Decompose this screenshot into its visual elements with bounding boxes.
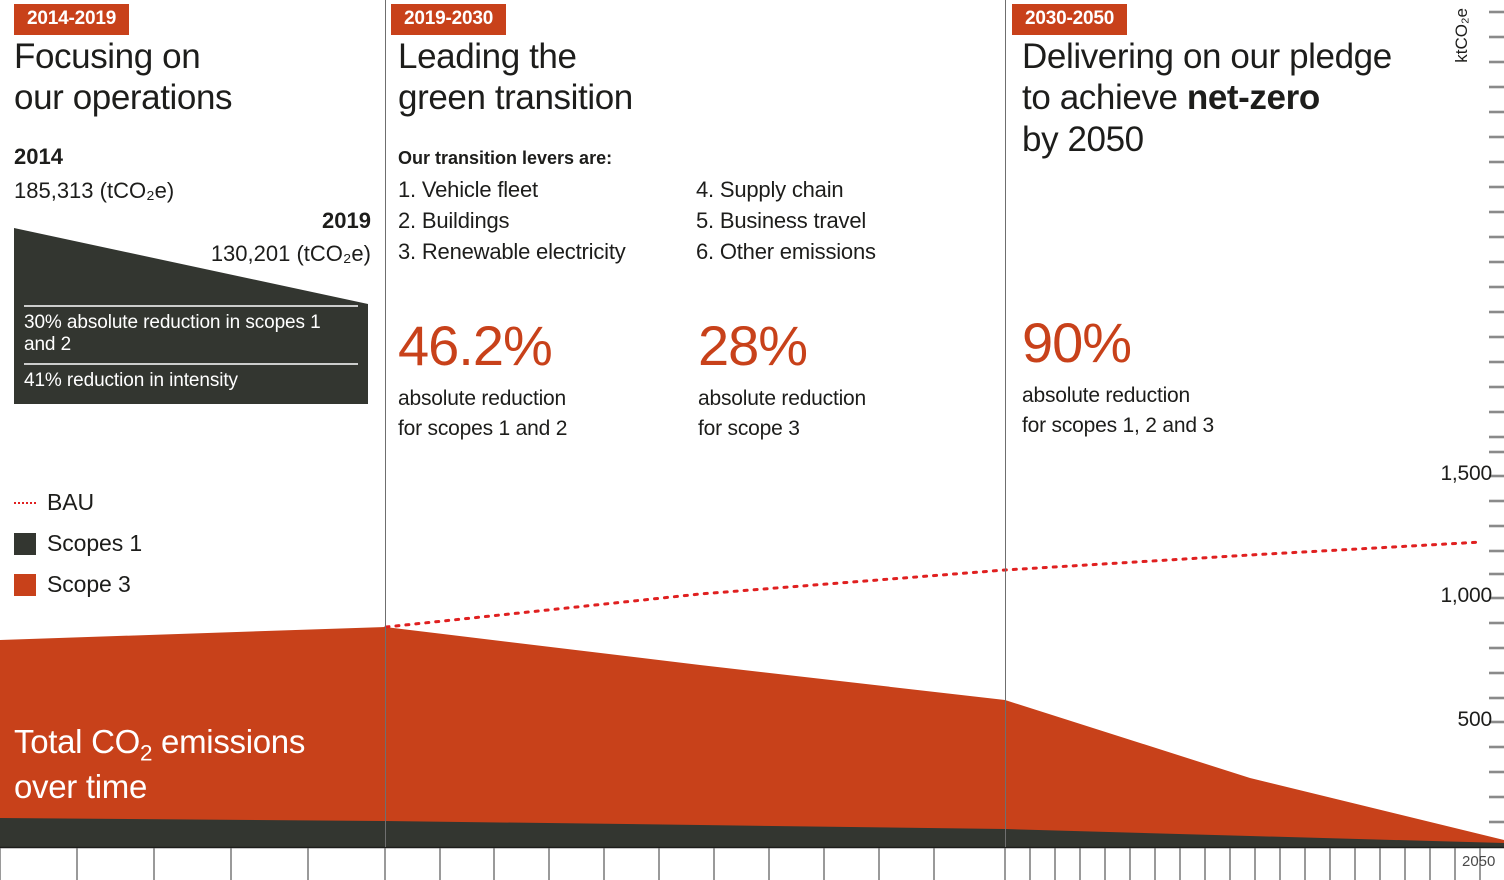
- chart-title-subscript: 2: [140, 741, 152, 766]
- chart-title-line-2: over time: [14, 767, 305, 808]
- legend-label-bau: BAU: [47, 489, 94, 516]
- chart-title-line-1: Total CO2 emissions: [14, 722, 305, 767]
- panel-3-heading-line-1: Delivering on our pledge: [1022, 36, 1392, 77]
- transition-levers-title: Our transition levers are:: [398, 148, 612, 169]
- chart-title-suffix: emissions: [152, 723, 305, 760]
- stat-scope-3: 28% absolute reduction for scope 3: [698, 318, 866, 445]
- stat-caption-line-2: for scopes 1, 2 and 3: [1022, 411, 1214, 441]
- stat-caption-line-2: for scopes 1 and 2: [398, 414, 567, 444]
- legend-item-scope-3[interactable]: Scope 3: [14, 564, 142, 605]
- transition-levers-column-b: 4. Supply chain 5. Business travel 6. Ot…: [696, 174, 876, 268]
- stat-value: 46.2%: [398, 318, 567, 374]
- legend-label-scopes-1: Scopes 1: [47, 530, 142, 557]
- x-axis-ticks: [0, 848, 1480, 880]
- chart-legend: BAU Scopes 1 Scope 3: [14, 482, 142, 605]
- chart-title: Total CO2 emissions over time: [14, 722, 305, 808]
- panel-2-heading-line-2: green transition: [398, 77, 633, 118]
- square-swatch-icon: [14, 533, 36, 555]
- y-axis-title: ktCO₂e: [1452, 8, 1472, 63]
- stat-value: 90%: [1022, 315, 1214, 371]
- stat-caption-line-1: absolute reduction: [1022, 381, 1214, 411]
- transition-levers-column-a: 1. Vehicle fleet 2. Buildings 3. Renewab…: [398, 174, 626, 268]
- panel-3-heading-line-3: by 2050: [1022, 119, 1392, 160]
- reduction-stat-intensity: 41% reduction in intensity: [24, 370, 354, 392]
- y-tick-label-1000: 1,000: [1440, 584, 1492, 608]
- lever-item: 3. Renewable electricity: [398, 236, 626, 267]
- y-axis-ticks: [1489, 12, 1504, 822]
- panel-divider-2019: [385, 0, 386, 847]
- legend-item-scopes-1[interactable]: Scopes 1: [14, 523, 142, 564]
- stat-caption-line-1: absolute reduction: [398, 384, 567, 414]
- lever-item: 2. Buildings: [398, 205, 626, 236]
- stat-caption-line-1: absolute reduction: [698, 384, 866, 414]
- panel-1-heading-line-1: Focusing on: [14, 36, 232, 77]
- y-tick-label-500: 500: [1458, 708, 1492, 732]
- panel-2-heading: Leading the green transition: [398, 36, 633, 119]
- reduction-stat-absolute: 30% absolute reduction in scopes 1 and 2: [24, 312, 354, 357]
- period-tab-2019-2030[interactable]: 2019-2030: [391, 4, 506, 35]
- dotted-line-icon: [14, 492, 36, 514]
- year-2014-label: 2014: [14, 144, 63, 170]
- year-2014-value: 185,313 (tCO₂e): [14, 178, 174, 204]
- period-tab-2014-2019[interactable]: 2014-2019: [14, 4, 129, 35]
- panel-3-heading: Delivering on our pledge to achieve net-…: [1022, 36, 1392, 160]
- bau-line: [386, 542, 1482, 627]
- stat-caption-line-2: for scope 3: [698, 414, 866, 444]
- panel-3-heading-line-2: to achieve net-zero: [1022, 77, 1392, 118]
- panel-2-heading-line-1: Leading the: [398, 36, 633, 77]
- chart-title-prefix: Total CO: [14, 723, 140, 760]
- legend-label-scope-3: Scope 3: [47, 571, 131, 598]
- year-2019-value: 130,201 (tCO₂e): [0, 241, 371, 267]
- stat-scopes-1-and-2: 46.2% absolute reduction for scopes 1 an…: [398, 318, 567, 445]
- year-2019-label: 2019: [0, 208, 371, 234]
- lever-item: 4. Supply chain: [696, 174, 876, 205]
- stat-caption: absolute reduction for scopes 1 and 2: [398, 384, 567, 445]
- panel-3-heading-prefix: to achieve: [1022, 78, 1187, 117]
- panel-1-heading: Focusing on our operations: [14, 36, 232, 119]
- panel-1-heading-line-2: our operations: [14, 77, 232, 118]
- stat-scopes-1-2-and-3: 90% absolute reduction for scopes 1, 2 a…: [1022, 315, 1214, 442]
- y-tick-label-1500: 1,500: [1440, 462, 1492, 486]
- lever-item: 6. Other emissions: [696, 236, 876, 267]
- x-tick-label-2050: 2050: [1462, 853, 1495, 870]
- stat-caption: absolute reduction for scope 3: [698, 384, 866, 445]
- period-tab-2030-2050[interactable]: 2030-2050: [1012, 4, 1127, 35]
- lever-item: 5. Business travel: [696, 205, 876, 236]
- panel-3-heading-netzero: net-zero: [1187, 78, 1320, 117]
- lever-item: 1. Vehicle fleet: [398, 174, 626, 205]
- infographic-root: 2014-2019 Focusing on our operations 201…: [0, 0, 1504, 880]
- square-swatch-icon: [14, 574, 36, 596]
- stat-value: 28%: [698, 318, 866, 374]
- panel-divider-2030: [1005, 0, 1006, 847]
- legend-item-bau[interactable]: BAU: [14, 482, 142, 523]
- stat-caption: absolute reduction for scopes 1, 2 and 3: [1022, 381, 1214, 442]
